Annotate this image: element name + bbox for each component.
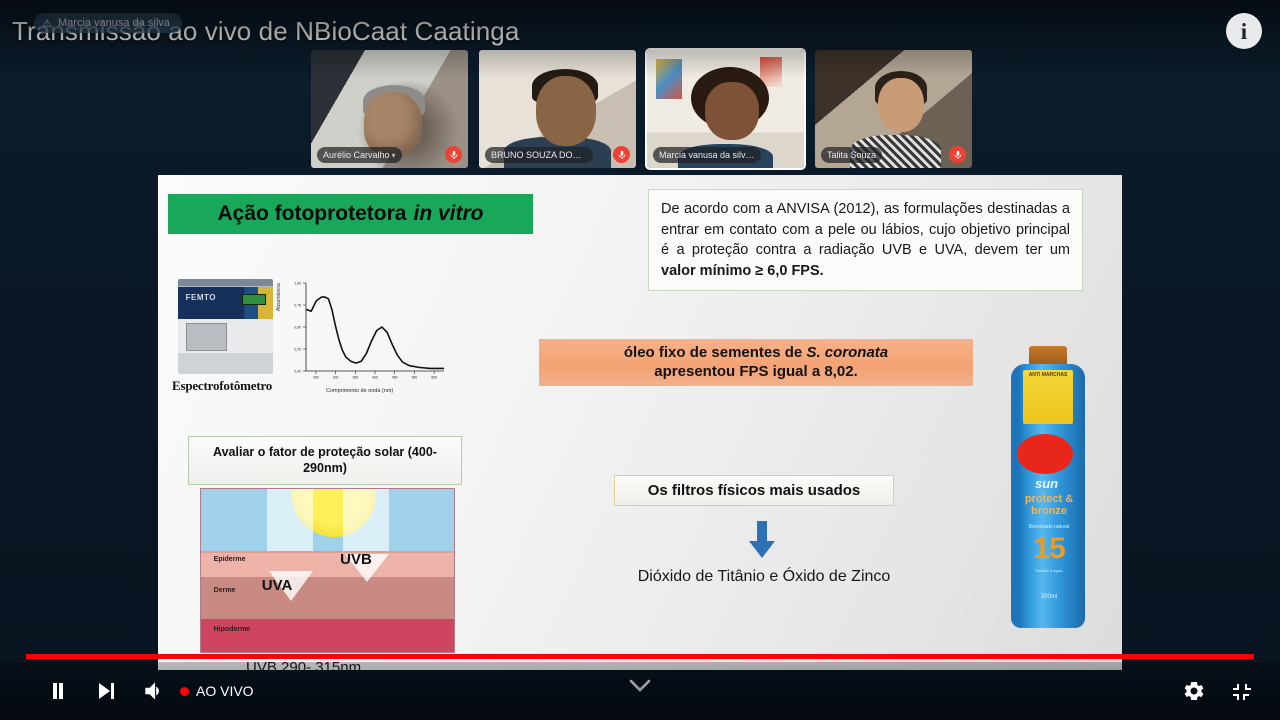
bottle-spf-value: 15 <box>1019 532 1079 566</box>
svg-text:0,50: 0,50 <box>294 326 301 330</box>
background-art <box>656 59 682 99</box>
bottle-promo-tag: ANTI MARCHAS <box>1023 370 1073 424</box>
svg-text:1,00: 1,00 <box>294 282 301 286</box>
fps-result-line1: óleo fixo de sementes de S. coronata <box>624 344 888 363</box>
slide-banner-title: Ação fotoprotetora <box>217 202 406 226</box>
bottle-brand: sun <box>1035 476 1058 491</box>
bottle-red-badge <box>1017 434 1073 474</box>
svg-text:0,25: 0,25 <box>294 348 301 352</box>
avatar <box>878 78 924 132</box>
spectrophotometer-image: FEMTO <box>178 279 273 374</box>
evaluate-spf-note: Avaliar o fator de proteção solar (400-2… <box>188 436 462 485</box>
volume-button[interactable] <box>130 667 178 715</box>
fps-result-box: óleo fixo de sementes de S. coronata apr… <box>539 339 973 386</box>
spectrophotometer-caption: Espectrofotômetro <box>172 378 272 394</box>
mic-active-icon <box>781 146 798 163</box>
spectro-brand-label: FEMTO <box>186 293 216 302</box>
live-label: AO VIVO <box>196 683 254 699</box>
participant-name: Marcia vanusa da silva▾ <box>653 147 761 163</box>
skin-label-hipoderme: Hipoderme <box>214 626 251 633</box>
sunscreen-bottle-image: ANTI MARCHAS sun protect & bronze Bronze… <box>1005 342 1091 628</box>
skin-uv-diagram: Epiderme Derme Hipoderme UVA UVB <box>200 488 455 653</box>
svg-text:250: 250 <box>313 376 319 380</box>
progress-fill <box>26 654 1254 659</box>
skin-layer-hipoderme <box>201 619 454 652</box>
participant-name: Aurélio Carvalho▾ <box>317 147 402 163</box>
next-video-button[interactable] <box>82 667 130 715</box>
bottle-cap <box>1029 346 1067 366</box>
anvisa-textbox: De acordo com a ANVISA (2012), as formul… <box>648 189 1083 291</box>
svg-text:500: 500 <box>412 376 418 380</box>
fps-result-line2: apresentou FPS igual a 8,02. <box>654 363 857 382</box>
participant-tile[interactable]: Talita Souza <box>815 50 972 168</box>
svg-text:300: 300 <box>333 376 339 380</box>
skin-label-epiderme: Epiderme <box>214 556 246 563</box>
bottle-fine-print: Resiste à água <box>1017 568 1081 574</box>
spectrum-xlabel: Comprimento de onda (nm) <box>326 388 393 394</box>
shared-slide: Ação fotoprotetora in vitro De acordo co… <box>158 175 1122 670</box>
info-icon[interactable]: i <box>1226 13 1262 49</box>
participant-tile[interactable]: BRUNO SOUZA DOS SAN...▾ <box>479 50 636 168</box>
avatar <box>536 76 596 146</box>
bottle-volume: 200ml <box>1019 594 1079 600</box>
mic-muted-icon <box>613 146 630 163</box>
mic-muted-icon <box>949 146 966 163</box>
speaker-chip: ⚠ Marcia vanusa da silva <box>34 13 182 33</box>
participant-strip: Aurélio Carvalho▾ BRUNO SOUZA DOS SAN...… <box>311 50 972 168</box>
svg-text:450: 450 <box>392 376 398 380</box>
settings-button[interactable] <box>1170 667 1218 715</box>
svg-text:550: 550 <box>431 376 437 380</box>
bottle-line1: protect & <box>1025 493 1073 505</box>
bottle-product-line: protect & bronze <box>1019 494 1079 517</box>
anvisa-text-bold: valor mínimo ≥ 6,0 FPS. <box>661 263 824 279</box>
participant-name: BRUNO SOUZA DOS SAN...▾ <box>485 147 593 163</box>
participant-name-text: Aurélio Carvalho <box>323 150 390 160</box>
participant-name: Talita Souza <box>821 147 882 163</box>
speaker-chip-name: Marcia vanusa da silva <box>58 17 170 29</box>
physical-filters-box: Os filtros físicos mais usados <box>614 475 894 506</box>
skin-label-derme: Derme <box>214 587 236 594</box>
down-arrow-icon <box>746 521 778 559</box>
spectro-display <box>242 294 267 304</box>
fps-result-prefix: óleo fixo de sementes de <box>624 344 807 361</box>
video-player[interactable]: Ação fotoprotetora in vitro De acordo co… <box>0 0 1280 720</box>
participant-tile-active-speaker[interactable]: Marcia vanusa da silva▾ <box>647 50 804 168</box>
svg-text:0,00: 0,00 <box>294 370 301 374</box>
species-name: S. coronata <box>806 344 888 361</box>
participant-tile[interactable]: Aurélio Carvalho▾ <box>311 50 468 168</box>
absorbance-spectrum-chart: 0,000,250,500,751,00 2503003504004505005… <box>280 275 448 393</box>
anvisa-text: De acordo com a ANVISA (2012), as formul… <box>661 201 1070 258</box>
spectrum-ylabel: Absorbância <box>276 283 282 311</box>
avatar <box>705 82 759 140</box>
mic-muted-icon <box>445 146 462 163</box>
chevron-down-icon: ▾ <box>753 151 757 160</box>
bottle-subtitle: Bronzeado natural <box>1019 524 1079 530</box>
participant-name-text: Talita Souza <box>827 150 876 160</box>
slide-banner-title-italic: in vitro <box>413 202 483 226</box>
svg-text:350: 350 <box>352 376 358 380</box>
skin-text-uvb: UVB <box>340 551 372 568</box>
svg-text:400: 400 <box>372 376 378 380</box>
live-dot-icon <box>180 687 189 696</box>
skin-text-uva: UVA <box>262 577 293 594</box>
participant-name-text: Marcia vanusa da silva <box>659 150 755 160</box>
physical-filters-answer: Dióxido de Titânio e Óxido de Zinco <box>614 568 914 586</box>
player-controls: AO VIVO <box>0 662 1280 720</box>
participant-name-text: BRUNO SOUZA DOS SAN... <box>491 150 593 160</box>
spectrum-svg: 0,000,250,500,751,00 2503003504004505005… <box>280 275 448 393</box>
progress-track[interactable] <box>26 654 1254 659</box>
progress-bar[interactable] <box>0 650 1280 662</box>
bottle-line2: bronze <box>1031 505 1067 517</box>
exit-fullscreen-button[interactable] <box>1218 667 1266 715</box>
svg-text:0,75: 0,75 <box>294 304 301 308</box>
spectro-lid <box>186 323 228 352</box>
slide-banner: Ação fotoprotetora in vitro <box>168 194 533 234</box>
pause-button[interactable] <box>34 667 82 715</box>
chevron-down-icon: ▾ <box>392 151 396 160</box>
skin-layer-derme <box>201 577 454 619</box>
live-badge[interactable]: AO VIVO <box>180 683 254 699</box>
mic-muted-icon: ⚠ <box>42 17 52 30</box>
